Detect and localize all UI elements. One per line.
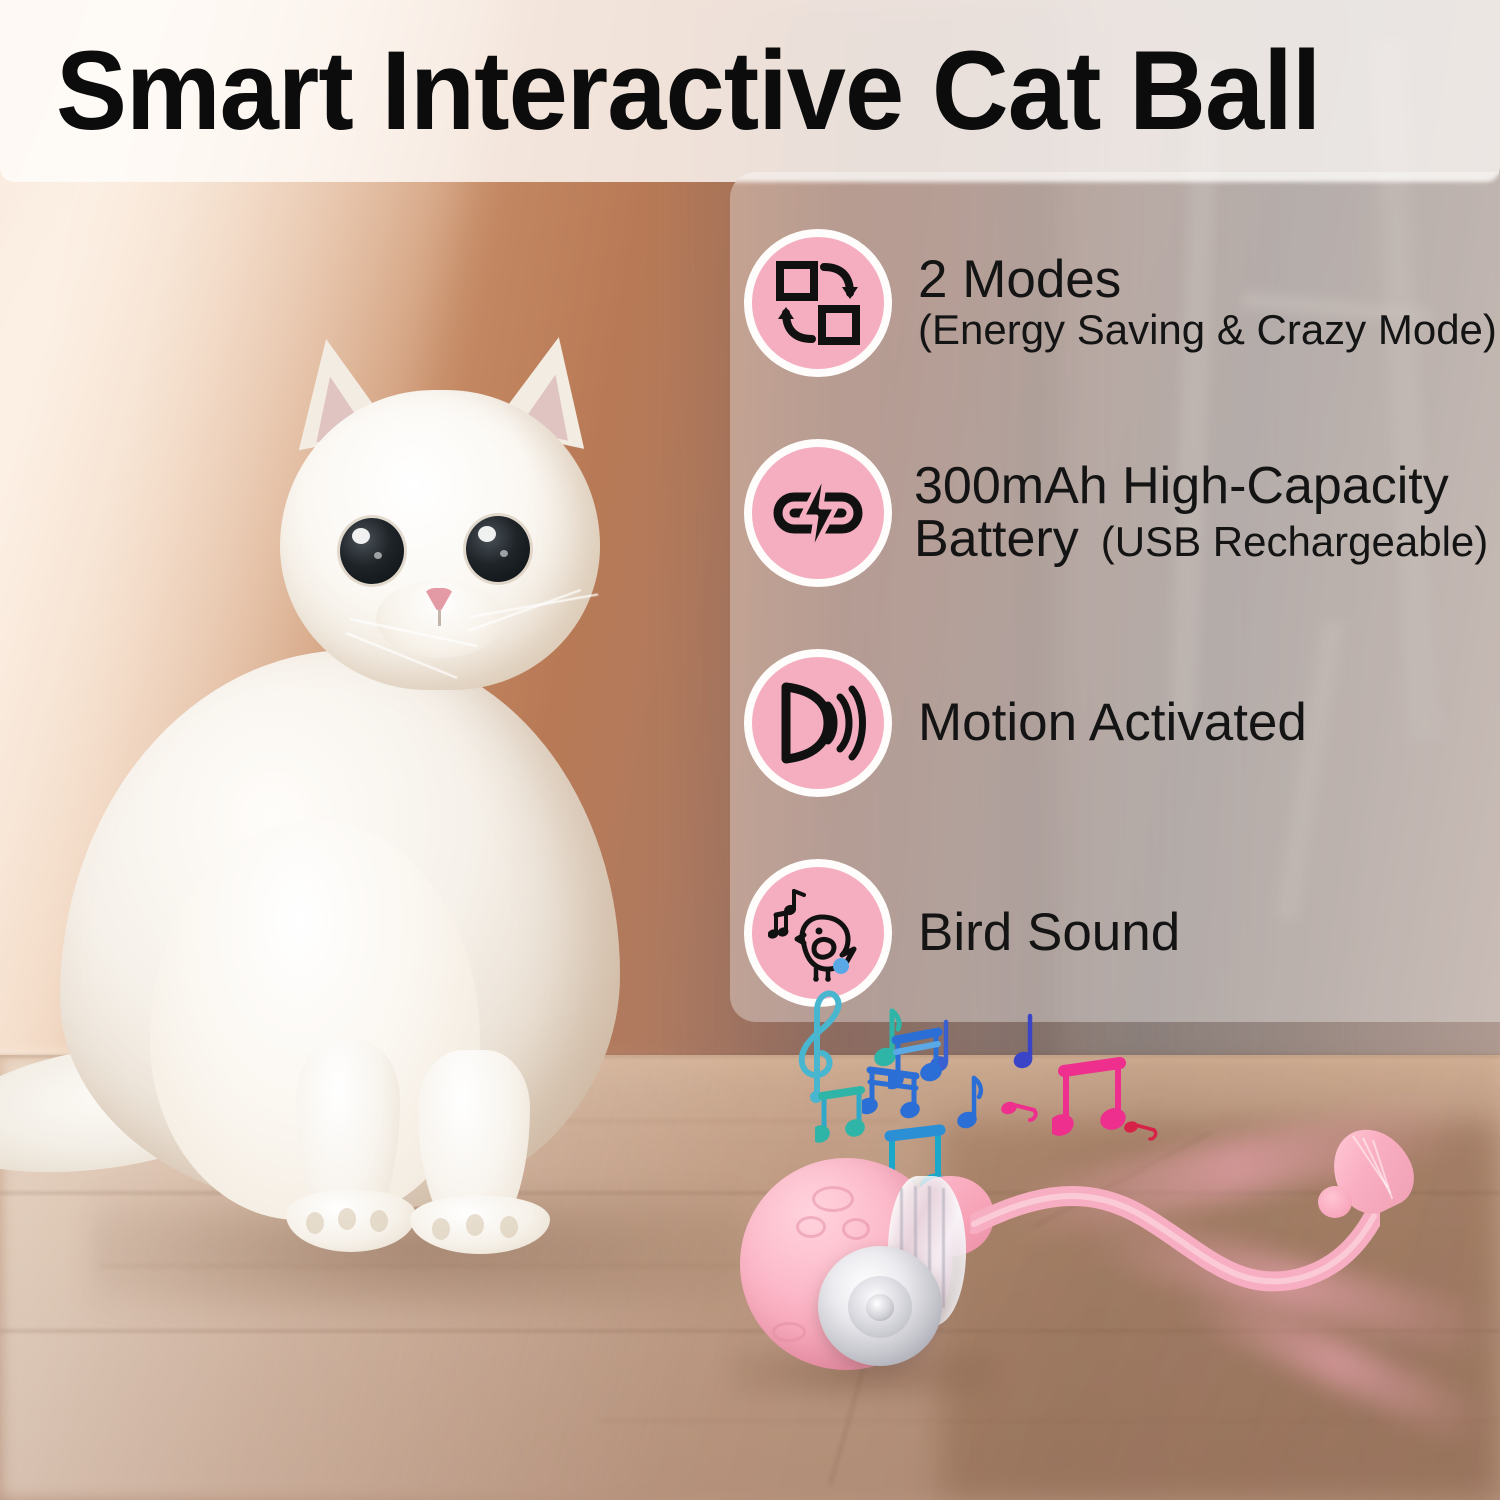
feature-title: 2 Modes <box>918 253 1497 307</box>
cat-mouth <box>438 610 441 626</box>
feature-item-motion: Motion Activated <box>730 618 1500 828</box>
music-note-eighth <box>1008 1012 1038 1072</box>
rope-tassel <box>1300 1122 1420 1242</box>
battery-charge-icon <box>752 447 884 579</box>
cat-eye-glint <box>374 552 382 559</box>
feature-list-panel: 2 Modes (Energy Saving & Crazy Mode) 300… <box>730 172 1500 1022</box>
drive-wheel-core <box>866 1294 894 1321</box>
feature-title: Motion Activated <box>918 696 1307 750</box>
title-banner: Smart Interactive Cat Ball <box>0 0 1500 182</box>
cat-eye-left <box>340 518 404 584</box>
product-cat-ball <box>700 1130 1500 1460</box>
cat-photo-subject <box>0 350 760 1270</box>
ball-embossed-paw <box>796 1216 826 1238</box>
cat-toe <box>338 1208 356 1230</box>
music-note-eighth <box>950 1072 984 1134</box>
cat-toe <box>466 1214 484 1236</box>
page-title: Smart Interactive Cat Ball <box>56 35 1320 147</box>
feature-title: 300mAh High-Capacity <box>914 460 1488 513</box>
feature-text-motion: Motion Activated <box>918 696 1307 750</box>
feature-subtitle: (Energy Saving & Crazy Mode) <box>918 307 1497 352</box>
cat-eye-glint <box>500 550 508 557</box>
ball-embossed-paw <box>772 1322 806 1342</box>
cat-eye-right <box>466 516 530 582</box>
feature-item-modes: 2 Modes (Energy Saving & Crazy Mode) <box>730 198 1500 408</box>
modes-swap-icon <box>752 237 884 369</box>
feature-text-battery: 300mAh High-Capacity Battery (USB Rechar… <box>914 460 1488 566</box>
motion-sensor-icon <box>752 657 884 789</box>
cat-toe <box>306 1212 324 1234</box>
cat-toe <box>432 1218 450 1240</box>
music-note-dot-blue <box>830 955 852 977</box>
ball-embossed-paw <box>812 1186 854 1212</box>
feature-text-bird: Bird Sound <box>918 906 1180 960</box>
ball-embossed-paw <box>842 1218 870 1240</box>
music-note-beamed-pair <box>862 1060 928 1122</box>
singing-bird-icon <box>752 867 884 999</box>
band-rib <box>942 1188 945 1308</box>
cat-toe <box>370 1210 388 1232</box>
cat-eye-glint <box>478 526 496 542</box>
tassel-knot <box>1318 1186 1352 1218</box>
cat-eye-glint <box>352 528 370 544</box>
feature-item-battery: 300mAh High-Capacity Battery (USB Rechar… <box>730 408 1500 618</box>
feature-note: (USB Rechargeable) <box>1101 518 1489 566</box>
feature-title: Bird Sound <box>918 906 1180 960</box>
feature-text-modes: 2 Modes (Energy Saving & Crazy Mode) <box>918 253 1497 352</box>
feature-title-line2: Battery <box>914 513 1079 566</box>
cat-toe <box>500 1216 518 1238</box>
product-marketing-image: Smart Interactive Cat Ball 2 Modes (Ener… <box>0 0 1500 1500</box>
music-note-small-pink <box>1000 1098 1040 1128</box>
